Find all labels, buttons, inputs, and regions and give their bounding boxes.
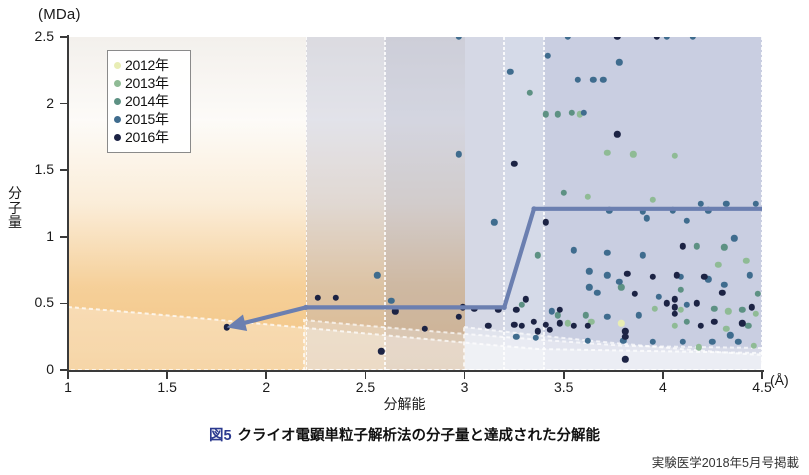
x-tick-4.5 (761, 372, 763, 379)
legend-item-2013年[interactable]: 2013年 (114, 74, 184, 92)
y-tick-label-1.5: 1.5 (14, 161, 54, 177)
x-tick-3.5 (563, 372, 565, 379)
x-tick-1.5 (166, 372, 168, 379)
y-axis-unit: (MDa) (38, 6, 81, 23)
legend-item-2012年[interactable]: 2012年 (114, 56, 184, 74)
x-tick-1 (67, 372, 69, 379)
legend: 2012年2013年2014年2015年2016年 (107, 50, 191, 153)
legend-item-2015年[interactable]: 2015年 (114, 110, 184, 128)
trend-vertex-2 (303, 305, 308, 310)
x-tick-4 (662, 372, 664, 379)
trend-arrowhead-icon (227, 314, 248, 330)
y-tick-label-1: 1 (14, 228, 54, 244)
legend-swatch-icon (114, 134, 121, 141)
trend-vertex-1 (502, 305, 507, 310)
figure-caption: 図5クライオ電顕単粒子解析法の分子量と達成された分解能 (0, 424, 809, 445)
x-tick-label-2: 2 (243, 379, 289, 395)
y-tick-1.5 (60, 169, 67, 171)
y-tick-0.5 (60, 303, 67, 305)
y-tick-label-0: 0 (14, 361, 54, 377)
x-tick-label-1.5: 1.5 (144, 379, 190, 395)
x-axis-unit: (Å) (770, 372, 789, 388)
figure-container: (MDa) 分子量 00.511.522.511.522.533.544.5 2… (0, 0, 809, 475)
y-tick-label-2: 2 (14, 95, 54, 111)
x-tick-3 (464, 372, 466, 379)
y-tick-label-0.5: 0.5 (14, 294, 54, 310)
y-tick-0 (60, 369, 67, 371)
x-tick-label-3.5: 3.5 (541, 379, 587, 395)
legend-swatch-icon (114, 80, 121, 87)
y-tick-label-2.5: 2.5 (14, 28, 54, 44)
x-tick-2.5 (365, 372, 367, 379)
legend-item-2016年[interactable]: 2016年 (114, 128, 184, 146)
x-tick-label-4: 4 (640, 379, 686, 395)
legend-label: 2013年 (125, 73, 169, 93)
y-axis-title-char-1: 子 (6, 201, 24, 216)
legend-swatch-icon (114, 98, 121, 105)
y-axis-title: 分子量 (6, 186, 24, 230)
legend-swatch-icon (114, 116, 121, 123)
figure-caption-text: クライオ電顕単粒子解析法の分子量と達成された分解能 (238, 428, 601, 444)
y-axis-title-char-0: 分 (6, 186, 24, 201)
y-tick-2.5 (60, 36, 67, 38)
legend-label: 2012年 (125, 55, 169, 75)
legend-swatch-icon (114, 62, 121, 69)
source-credit: 実験医学2018年5月号掲載 (652, 452, 799, 471)
trend-vertex-0 (531, 206, 536, 211)
x-axis-title: 分解能 (0, 394, 809, 414)
x-axis-line (67, 370, 764, 372)
x-tick-label-2.5: 2.5 (342, 379, 388, 395)
x-tick-label-3: 3 (442, 379, 488, 395)
y-tick-2 (60, 103, 67, 105)
legend-item-2014年[interactable]: 2014年 (114, 92, 184, 110)
figure-number: 図5 (209, 428, 232, 444)
x-tick-2 (265, 372, 267, 379)
legend-label: 2016年 (125, 127, 169, 147)
y-tick-1 (60, 236, 67, 238)
legend-label: 2015年 (125, 109, 169, 129)
x-tick-label-1: 1 (45, 379, 91, 395)
legend-label: 2014年 (125, 91, 169, 111)
